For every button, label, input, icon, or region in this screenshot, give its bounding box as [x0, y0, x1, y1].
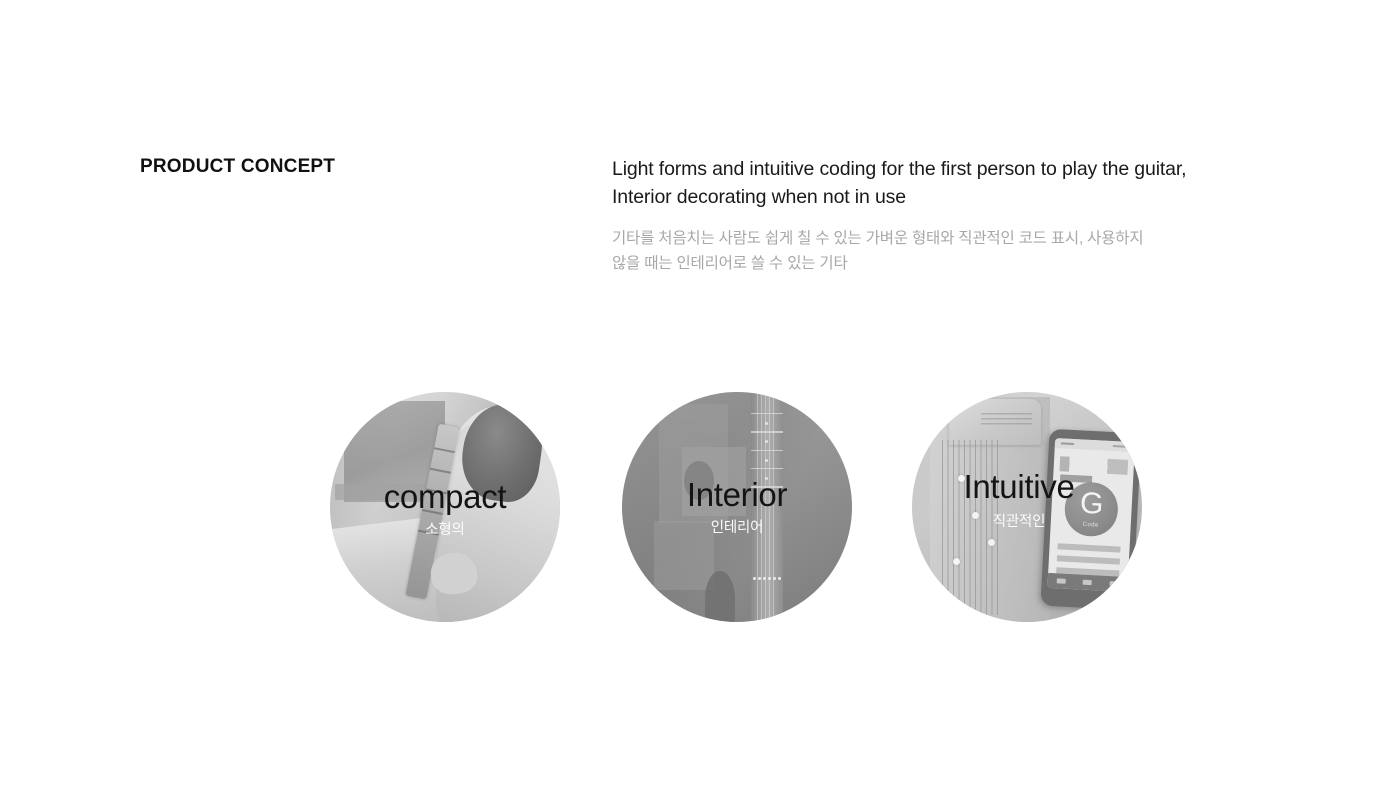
phone-app-toolbar: [1060, 456, 1129, 475]
chord-diagram-circle: G Code: [1064, 481, 1120, 537]
photo-wall-ring-shape: [684, 461, 714, 500]
person-playing-guitar-photo: [330, 392, 560, 622]
headline-line-1: Light forms and intuitive coding for the…: [612, 155, 1252, 183]
phone-nav-bar: [1047, 573, 1129, 592]
page-title: PRODUCT CONCEPT: [140, 156, 335, 178]
photo-brand-text-shape: [981, 413, 1032, 427]
photo-smartphone-shape: G Code: [1041, 429, 1142, 611]
photo-guitar-strings-shape: [942, 440, 1002, 615]
subcopy-line-1: 기타를 처음치는 사람도 쉽게 칠 수 있는 가벼운 형태와 직관적인 코드 표…: [612, 226, 1242, 251]
concept-subcopy: 기타를 처음치는 사람도 쉽게 칠 수 있는 가벼운 형태와 직관적인 코드 표…: [612, 226, 1242, 276]
photo-hanging-guitar-shape: [751, 392, 783, 622]
phone-status-bar: [1055, 438, 1136, 453]
chord-letter: G: [1080, 489, 1105, 520]
photo-bridge-dots: [753, 576, 781, 581]
guitar-on-wall-interior-photo: [622, 392, 852, 622]
concept-circle-intuitive: G Code Intuitive 직관적인: [912, 392, 1142, 622]
concept-circle-interior: Interior 인테리어: [622, 392, 852, 622]
photo-wall-panel-c: [654, 521, 714, 590]
concept-circle-row: compact 소형의: [0, 392, 1400, 632]
subcopy-line-2: 않을 때는 인테리어로 쓸 수 있는 기타: [612, 251, 1242, 276]
headline-line-2: Interior decorating when not in use: [612, 183, 1252, 211]
guitar-with-chord-app-phone-photo: G Code: [912, 392, 1142, 622]
chord-sub-label: Code: [1083, 522, 1099, 529]
concept-headline: Light forms and intuitive coding for the…: [612, 155, 1252, 212]
photo-floor-object-shape: [705, 571, 735, 622]
concept-circle-compact: compact 소형의: [330, 392, 560, 622]
slide-canvas: PRODUCT CONCEPT Light forms and intuitiv…: [0, 0, 1400, 788]
phone-screen: G Code: [1047, 438, 1136, 593]
